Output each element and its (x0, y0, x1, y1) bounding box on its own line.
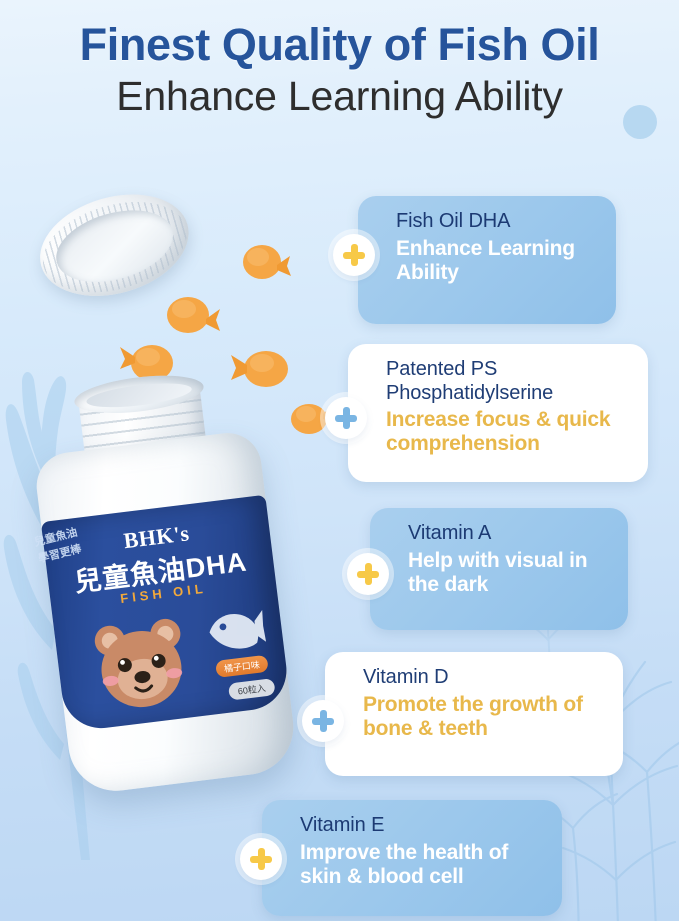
feature-card-vitamin-e[interactable]: Vitamin E Improve the health of skin & b… (262, 800, 562, 916)
feature-card-patented-ps[interactable]: Patented PS Phosphatidylserine Increase … (348, 344, 648, 482)
feature-title: Vitamin D (363, 666, 607, 690)
feature-card-vitamin-a[interactable]: Vitamin A Help with visual in the dark (370, 508, 628, 630)
feature-cards-list: Fish Oil DHA Enhance Learning Ability Pa… (0, 0, 679, 921)
plus-icon-blue (302, 700, 344, 742)
plus-icon-yellow (347, 553, 389, 595)
feature-benefit: Help with visual in the dark (408, 549, 612, 597)
feature-title: Vitamin E (300, 814, 546, 838)
plus-icon-yellow (333, 234, 375, 276)
plus-icon-yellow (240, 838, 282, 880)
feature-title: Patented PS Phosphatidylserine (386, 358, 632, 405)
feature-card-vitamin-d[interactable]: Vitamin D Promote the growth of bone & t… (325, 652, 623, 776)
feature-benefit: Enhance Learning Ability (396, 237, 600, 285)
feature-benefit: Improve the health of skin & blood cell (300, 841, 546, 889)
product-poster: Finest Quality of Fish Oil Enhance Learn… (0, 0, 679, 921)
feature-benefit: Promote the growth of bone & teeth (363, 693, 607, 741)
plus-icon-blue (325, 397, 367, 439)
feature-benefit: Increase focus & quick comprehension (386, 408, 632, 456)
feature-title: Vitamin A (408, 522, 612, 546)
feature-title: Fish Oil DHA (396, 210, 600, 234)
feature-card-fish-oil-dha[interactable]: Fish Oil DHA Enhance Learning Ability (358, 196, 616, 324)
